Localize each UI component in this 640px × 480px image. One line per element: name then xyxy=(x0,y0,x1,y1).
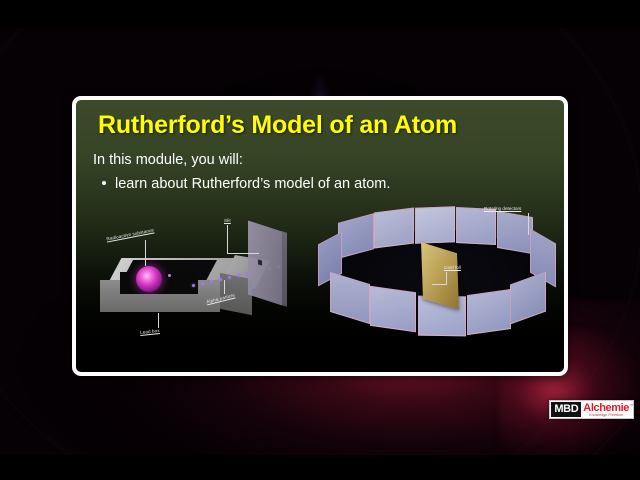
letterbox-bottom xyxy=(0,455,640,480)
radioactive-source-glow xyxy=(136,266,162,292)
slide-content: Rutherford’s Model of an Atom In this mo… xyxy=(76,100,564,372)
detector-panel xyxy=(370,286,416,332)
bullet-text: learn about Rutherford’s model of an ato… xyxy=(115,176,390,192)
slit-aperture xyxy=(258,259,262,265)
alpha-source-apparatus: Radioactive substance Lead box Alpha par… xyxy=(96,214,316,372)
letterbox-top xyxy=(0,0,640,28)
label-gold-foil: Gold foil xyxy=(444,265,461,270)
leader-line-gold-foil-horizontal xyxy=(432,284,447,285)
rotating-detector-ring: Rotating detectors Gold foil xyxy=(314,204,564,372)
slit-screen-plate xyxy=(248,220,282,305)
alpha-particle-dot xyxy=(201,282,204,285)
alpha-particle-dot xyxy=(210,280,213,283)
list-item: learn about Rutherford’s model of an ato… xyxy=(102,176,390,192)
alpha-particle-dot xyxy=(237,274,240,277)
detector-panel xyxy=(374,208,414,249)
leader-line-radioactive-substance xyxy=(145,240,146,266)
trademark-icon: ™ xyxy=(629,401,633,411)
figure-rutherford-experiment: Radioactive substance Lead box Alpha par… xyxy=(76,204,564,372)
slide-frame: Rutherford’s Model of an Atom In this mo… xyxy=(72,96,568,376)
brand-logo: MBD Alchemie™ Knowledge Freedom xyxy=(549,400,634,419)
label-radioactive-substance: Radioactive substance xyxy=(106,227,154,241)
label-slit: Slit xyxy=(224,218,231,223)
presentation-viewer: Rutherford’s Model of an Atom In this mo… xyxy=(0,0,640,480)
detector-panel xyxy=(415,206,455,243)
label-lead-box: Lead box xyxy=(140,328,160,335)
bullet-dot-icon xyxy=(102,181,106,185)
label-rotating-detectors: Rotating detectors xyxy=(484,206,521,211)
alpha-particle-dot xyxy=(192,284,195,287)
intro-text: In this module, you will: xyxy=(93,152,243,168)
detector-panel xyxy=(456,207,496,245)
leader-line-alpha-particle xyxy=(224,280,225,294)
leader-line-slit-vertical xyxy=(227,225,228,253)
slit-screen-edge xyxy=(282,231,287,307)
alpha-particle-dot xyxy=(219,278,222,281)
detector-panel xyxy=(467,289,511,335)
leader-line-gold-foil-vertical xyxy=(446,272,447,284)
leader-line-slit-horizontal xyxy=(227,253,259,254)
leader-line-rotating-detectors xyxy=(528,213,529,235)
logo-mbd-text: MBD xyxy=(551,402,581,417)
logo-right-block: Alchemie™ Knowledge Freedom xyxy=(581,402,632,417)
radioactive-source-spark xyxy=(168,274,171,277)
leader-line-lead-box xyxy=(158,313,159,328)
logo-alchemie-text: Alchemie™ xyxy=(583,403,629,413)
gold-foil-target xyxy=(421,242,459,310)
page-title: Rutherford’s Model of an Atom xyxy=(98,111,457,140)
alpha-particle-dot xyxy=(228,276,231,279)
